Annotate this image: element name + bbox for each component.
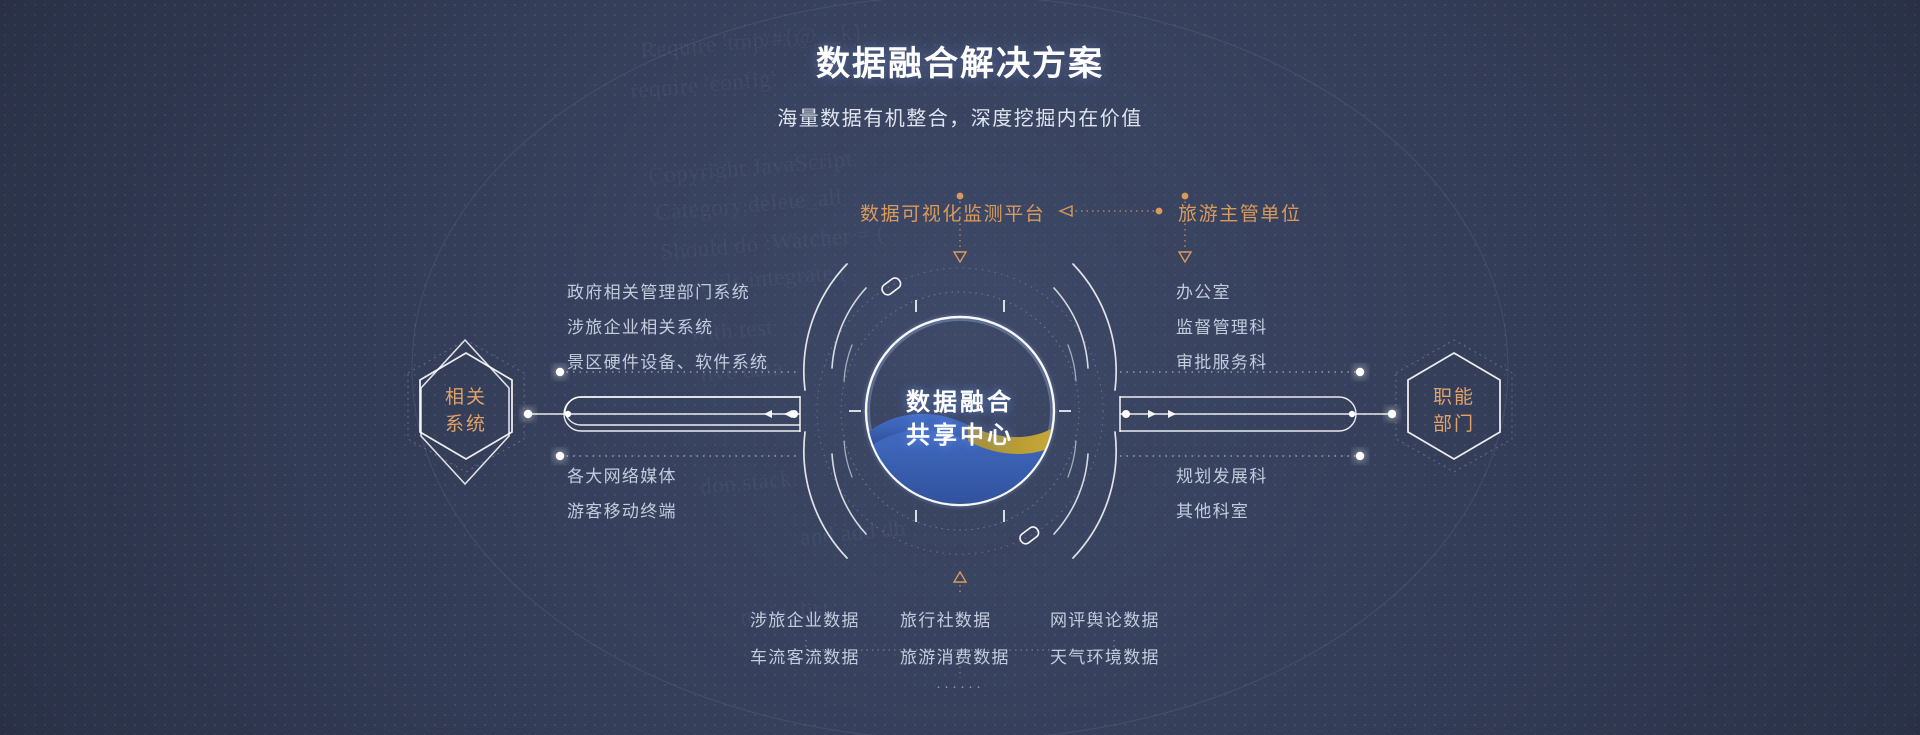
right-upper-item-1[interactable]: 监督管理科 xyxy=(1176,313,1268,338)
bottom-item-r1c1[interactable]: 旅游消费数据 xyxy=(900,643,1010,668)
bottom-item-r1c0[interactable]: 车流客流数据 xyxy=(750,643,860,668)
left-upper-item-1[interactable]: 涉旅企业相关系统 xyxy=(567,313,713,338)
hex-left-line2: 系统 xyxy=(445,411,487,438)
left-upper-item-0[interactable]: 政府相关管理部门系统 xyxy=(567,278,750,303)
right-lower-item-1[interactable]: 其他科室 xyxy=(1176,497,1249,522)
hex-label-left: 相关 系统 xyxy=(445,384,487,438)
page-title: 数据融合解决方案 xyxy=(0,36,1920,85)
bottom-item-r0c0[interactable]: 涉旅企业数据 xyxy=(750,606,860,631)
left-lower-item-0[interactable]: 各大网络媒体 xyxy=(567,462,677,487)
hex-right-line2: 部门 xyxy=(1433,411,1475,438)
label-tourism-authority[interactable]: 旅游主管单位 xyxy=(1178,199,1302,226)
right-lower-item-0[interactable]: 规划发展科 xyxy=(1176,462,1268,487)
page-header: 数据融合解决方案 海量数据有机整合，深度挖掘内在价值 xyxy=(0,36,1920,131)
center-line2: 共享中心 xyxy=(906,419,1014,452)
right-upper-item-0[interactable]: 办公室 xyxy=(1176,278,1231,303)
bottom-ellipsis: ······ xyxy=(936,678,984,695)
right-upper-item-2[interactable]: 审批服务科 xyxy=(1176,348,1268,373)
hex-label-right: 职能 部门 xyxy=(1433,384,1475,438)
center-line1: 数据融合 xyxy=(906,386,1014,419)
label-visualization-platform[interactable]: 数据可视化监测平台 xyxy=(860,199,1045,226)
center-label: 数据融合 共享中心 xyxy=(906,386,1014,452)
bottom-item-r0c2[interactable]: 网评舆论数据 xyxy=(1050,606,1160,631)
hex-left-line1: 相关 xyxy=(445,384,487,411)
page-subtitle: 海量数据有机整合，深度挖掘内在价值 xyxy=(0,102,1920,131)
bottom-item-r0c1[interactable]: 旅行社数据 xyxy=(900,606,992,631)
left-upper-item-2[interactable]: 景区硬件设备、软件系统 xyxy=(567,348,768,373)
hex-right-line1: 职能 xyxy=(1433,384,1475,411)
left-lower-item-1[interactable]: 游客移动终端 xyxy=(567,497,677,522)
bottom-item-r1c2[interactable]: 天气环境数据 xyxy=(1050,643,1160,668)
